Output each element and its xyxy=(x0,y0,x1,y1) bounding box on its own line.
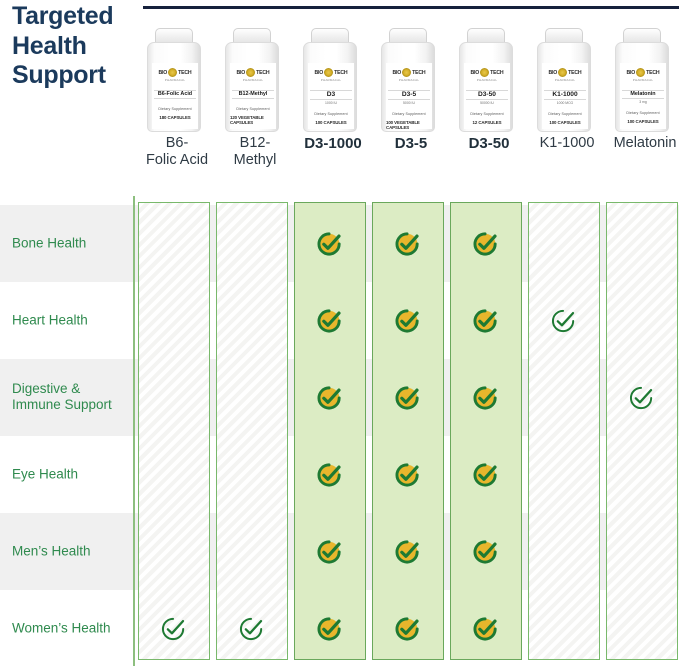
brand-seal-icon xyxy=(480,68,489,77)
brand-subtitle: PHARMACAL xyxy=(399,78,419,82)
bottle-count-text: 12 CAPSULES xyxy=(473,120,502,125)
check-icon-mens-health-d3-5 xyxy=(393,537,423,567)
brand-name-right: TECH xyxy=(256,70,269,76)
brand-subtitle: PHARMACAL xyxy=(633,78,653,82)
product-name-line1: B6- xyxy=(166,135,189,151)
check-icon-digestive-immune-support-d3-1000 xyxy=(315,383,345,413)
brand-seal-icon xyxy=(168,68,177,77)
product-name-b6-folic-acid: B6-Folic Acid xyxy=(138,135,216,169)
bottle-count-text: 100 CAPSULES xyxy=(549,120,580,125)
brand-name-left: BIO xyxy=(237,70,246,76)
bottle-image-k1-1000: BIOTECHPHARMACALK1-10001000 MCGDietary S… xyxy=(536,28,592,132)
bottle-product-strength: 3 mg xyxy=(639,100,647,104)
bottle-product-strength: 5000 IU xyxy=(403,101,415,105)
brand-seal-icon xyxy=(324,68,333,77)
product-column-melatonin: BIOTECHPHARMACALMelatonin3 mgDietary Sup… xyxy=(606,28,678,180)
brand-name-right: TECH xyxy=(568,70,581,76)
check-icon-heart-health-d3-50 xyxy=(471,306,501,336)
row-label-womens-health: Women’s Health xyxy=(12,620,132,637)
row-label-line: Digestive & xyxy=(12,381,80,396)
check-icon-digestive-immune-support-melatonin xyxy=(627,383,657,413)
product-header-strip: BIOTECHPHARMACALB6-Folic AcidDietary Sup… xyxy=(134,28,679,180)
header-divider-rule xyxy=(143,6,679,9)
brand-lockup: BIOTECH xyxy=(549,68,582,77)
brand-seal-icon xyxy=(246,68,255,77)
bottle-product-name: D3-50 xyxy=(466,90,507,101)
brand-name-right: TECH xyxy=(178,70,191,76)
row-label-line: Bone Health xyxy=(12,235,86,250)
bottle-count-text: 100 VEGETABLE CAPSULES xyxy=(386,120,432,129)
brand-lockup: BIOTECH xyxy=(237,68,270,77)
row-label-heart-health: Heart Health xyxy=(12,312,132,329)
product-column-b12-methyl: BIOTECHPHARMACALB12-MethylDietary Supple… xyxy=(216,28,288,180)
brand-name-left: BIO xyxy=(471,70,480,76)
bottle-label: BIOTECHPHARMACALD3-55000 IUDietary Suppl… xyxy=(386,63,432,129)
row-label-digestive-immune-support: Digestive &Immune Support xyxy=(12,381,132,415)
check-icon-mens-health-d3-1000 xyxy=(315,537,345,567)
bottle-count-text: 100 CAPSULES xyxy=(627,119,658,124)
bottle-body: BIOTECHPHARMACALMelatonin3 mgDietary Sup… xyxy=(615,42,669,132)
bottle-body: BIOTECHPHARMACALB12-MethylDietary Supple… xyxy=(225,42,279,132)
bottle-count-text: 120 VEGETABLE CAPSULES xyxy=(230,115,276,125)
row-label-line: Eye Health xyxy=(12,466,78,481)
bottle-label: BIOTECHPHARMACALD3-5050000 IUDietary Sup… xyxy=(464,63,510,129)
bottle-count-text: 100 CAPSULES xyxy=(315,120,346,125)
brand-name-right: TECH xyxy=(490,70,503,76)
brand-name-left: BIO xyxy=(549,70,558,76)
bottle-product-name: D3-5 xyxy=(388,90,429,101)
bottle-diet-text: Dietary Supplement xyxy=(470,112,503,116)
row-label-line: Women’s Health xyxy=(12,620,111,635)
bottle-image-b12-methyl: BIOTECHPHARMACALB12-MethylDietary Supple… xyxy=(224,28,280,132)
bottle-label: BIOTECHPHARMACALB12-MethylDietary Supple… xyxy=(230,63,276,129)
bottle-body: BIOTECHPHARMACALB6-Folic AcidDietary Sup… xyxy=(147,42,201,132)
product-name-d3-50: D3-50 xyxy=(450,135,528,152)
bottle-label: BIOTECHPHARMACALD31000 IUDietary Supplem… xyxy=(308,63,354,129)
bottle-image-b6-folic-acid: BIOTECHPHARMACALB6-Folic AcidDietary Sup… xyxy=(146,28,202,132)
check-icon-heart-health-k1-1000 xyxy=(549,306,579,336)
check-icon-digestive-immune-support-d3-50 xyxy=(471,383,501,413)
brand-name-left: BIO xyxy=(393,70,402,76)
bottle-product-name: D3 xyxy=(310,90,351,101)
row-label-line: Immune Support xyxy=(12,398,112,413)
check-icon-heart-health-d3-5 xyxy=(393,306,423,336)
matrix-column-b12-methyl xyxy=(216,202,288,660)
bottle-body: BIOTECHPHARMACALD3-5050000 IUDietary Sup… xyxy=(459,42,513,132)
bottle-label: BIOTECHPHARMACALK1-10001000 MCGDietary S… xyxy=(542,63,588,129)
product-name-line1: D3-50 xyxy=(469,135,510,152)
brand-name-right: TECH xyxy=(412,70,425,76)
row-label-bone-health: Bone Health xyxy=(12,235,132,252)
brand-lockup: BIOTECH xyxy=(315,68,348,77)
bottle-image-d3-5: BIOTECHPHARMACALD3-55000 IUDietary Suppl… xyxy=(380,28,436,132)
product-column-k1-1000: BIOTECHPHARMACALK1-10001000 MCGDietary S… xyxy=(528,28,600,180)
product-column-b6-folic-acid: BIOTECHPHARMACALB6-Folic AcidDietary Sup… xyxy=(138,28,210,180)
bottle-body: BIOTECHPHARMACALK1-10001000 MCGDietary S… xyxy=(537,42,591,132)
product-name-line1: D3-1000 xyxy=(304,135,362,152)
brand-lockup: BIOTECH xyxy=(471,68,504,77)
product-name-k1-1000: K1-1000 xyxy=(528,135,606,152)
bottle-product-name: K1-1000 xyxy=(544,90,585,101)
matrix-left-border xyxy=(133,196,135,666)
check-icon-womens-health-b6-folic-acid xyxy=(159,614,189,644)
bottle-product-name: B6-Folic Acid xyxy=(154,90,195,100)
check-icon-mens-health-d3-50 xyxy=(471,537,501,567)
bottle-diet-text: Dietary Supplement xyxy=(626,111,659,115)
check-icon-bone-health-d3-1000 xyxy=(315,229,345,259)
check-icon-eye-health-d3-1000 xyxy=(315,460,345,490)
product-name-d3-1000: D3-1000 xyxy=(294,135,372,152)
product-column-d3-5: BIOTECHPHARMACALD3-55000 IUDietary Suppl… xyxy=(372,28,444,180)
row-label-line: Men’s Health xyxy=(12,543,91,558)
brand-name-right: TECH xyxy=(646,70,659,76)
product-name-b12-methyl: B12-Methyl xyxy=(216,135,294,169)
brand-lockup: BIOTECH xyxy=(627,68,660,77)
brand-lockup: BIOTECH xyxy=(393,68,426,77)
bottle-body: BIOTECHPHARMACALD3-55000 IUDietary Suppl… xyxy=(381,42,435,132)
product-name-d3-5: D3-5 xyxy=(372,135,450,152)
bottle-count-text: 180 CAPSULES xyxy=(159,115,190,120)
matrix-column-d3-1000 xyxy=(294,202,366,660)
brand-seal-icon xyxy=(402,68,411,77)
product-name-line1: Melatonin xyxy=(614,135,677,151)
brand-subtitle: PHARMACAL xyxy=(321,78,341,82)
matrix-column-d3-5 xyxy=(372,202,444,660)
check-icon-eye-health-d3-50 xyxy=(471,460,501,490)
check-icon-digestive-immune-support-d3-5 xyxy=(393,383,423,413)
bottle-image-melatonin: BIOTECHPHARMACALMelatonin3 mgDietary Sup… xyxy=(614,28,670,132)
brand-name-left: BIO xyxy=(315,70,324,76)
bottle-product-strength: 1000 IU xyxy=(325,101,337,105)
product-column-d3-50: BIOTECHPHARMACALD3-5050000 IUDietary Sup… xyxy=(450,28,522,180)
bottle-body: BIOTECHPHARMACALD31000 IUDietary Supplem… xyxy=(303,42,357,132)
bottle-product-strength: 1000 MCG xyxy=(557,101,573,105)
product-name-melatonin: Melatonin xyxy=(606,135,679,152)
check-icon-heart-health-d3-1000 xyxy=(315,306,345,336)
brand-name-left: BIO xyxy=(159,70,168,76)
brand-subtitle: PHARMACAL xyxy=(165,78,185,82)
page-title: Targeted Health Support xyxy=(12,2,134,91)
check-icon-bone-health-d3-5 xyxy=(393,229,423,259)
brand-seal-icon xyxy=(636,68,645,77)
benefits-matrix: Bone HealthHeart HealthDigestive &Immune… xyxy=(0,196,679,666)
check-icon-bone-health-d3-50 xyxy=(471,229,501,259)
check-icon-womens-health-b12-methyl xyxy=(237,614,267,644)
product-name-line1: D3-5 xyxy=(395,135,428,152)
bottle-product-name: B12-Methyl xyxy=(232,90,273,100)
bottle-image-d3-1000: BIOTECHPHARMACALD31000 IUDietary Supplem… xyxy=(302,28,358,132)
matrix-column-k1-1000 xyxy=(528,202,600,660)
bottle-product-strength: 50000 IU xyxy=(480,101,494,105)
check-icon-womens-health-d3-1000 xyxy=(315,614,345,644)
bottle-diet-text: Dietary Supplement xyxy=(314,112,347,116)
brand-subtitle: PHARMACAL xyxy=(555,78,575,82)
brand-seal-icon xyxy=(558,68,567,77)
check-icon-womens-health-d3-5 xyxy=(393,614,423,644)
bottle-image-d3-50: BIOTECHPHARMACALD3-5050000 IUDietary Sup… xyxy=(458,28,514,132)
matrix-column-d3-50 xyxy=(450,202,522,660)
product-name-line2: Methyl xyxy=(234,152,277,168)
brand-subtitle: PHARMACAL xyxy=(243,78,263,82)
matrix-column-b6-folic-acid xyxy=(138,202,210,660)
product-column-d3-1000: BIOTECHPHARMACALD31000 IUDietary Supplem… xyxy=(294,28,366,180)
bottle-label: BIOTECHPHARMACALB6-Folic AcidDietary Sup… xyxy=(152,63,198,129)
bottle-diet-text: Dietary Supplement xyxy=(548,112,581,116)
row-label-line: Heart Health xyxy=(12,312,88,327)
brand-name-right: TECH xyxy=(334,70,347,76)
brand-name-left: BIO xyxy=(627,70,636,76)
product-name-line1: K1-1000 xyxy=(540,135,595,151)
brand-subtitle: PHARMACAL xyxy=(477,78,497,82)
bottle-diet-text: Dietary Supplement xyxy=(392,112,425,116)
product-name-line1: B12- xyxy=(240,135,271,151)
brand-lockup: BIOTECH xyxy=(159,68,192,77)
check-icon-womens-health-d3-50 xyxy=(471,614,501,644)
bottle-product-name: Melatonin xyxy=(622,90,663,100)
matrix-column-melatonin xyxy=(606,202,678,660)
check-icon-eye-health-d3-5 xyxy=(393,460,423,490)
bottle-diet-text: Dietary Supplement xyxy=(158,107,191,111)
row-label-mens-health: Men’s Health xyxy=(12,543,132,560)
product-name-line2: Folic Acid xyxy=(146,152,208,168)
bottle-diet-text: Dietary Supplement xyxy=(236,107,269,111)
bottle-label: BIOTECHPHARMACALMelatonin3 mgDietary Sup… xyxy=(620,63,666,129)
row-label-eye-health: Eye Health xyxy=(12,466,132,483)
